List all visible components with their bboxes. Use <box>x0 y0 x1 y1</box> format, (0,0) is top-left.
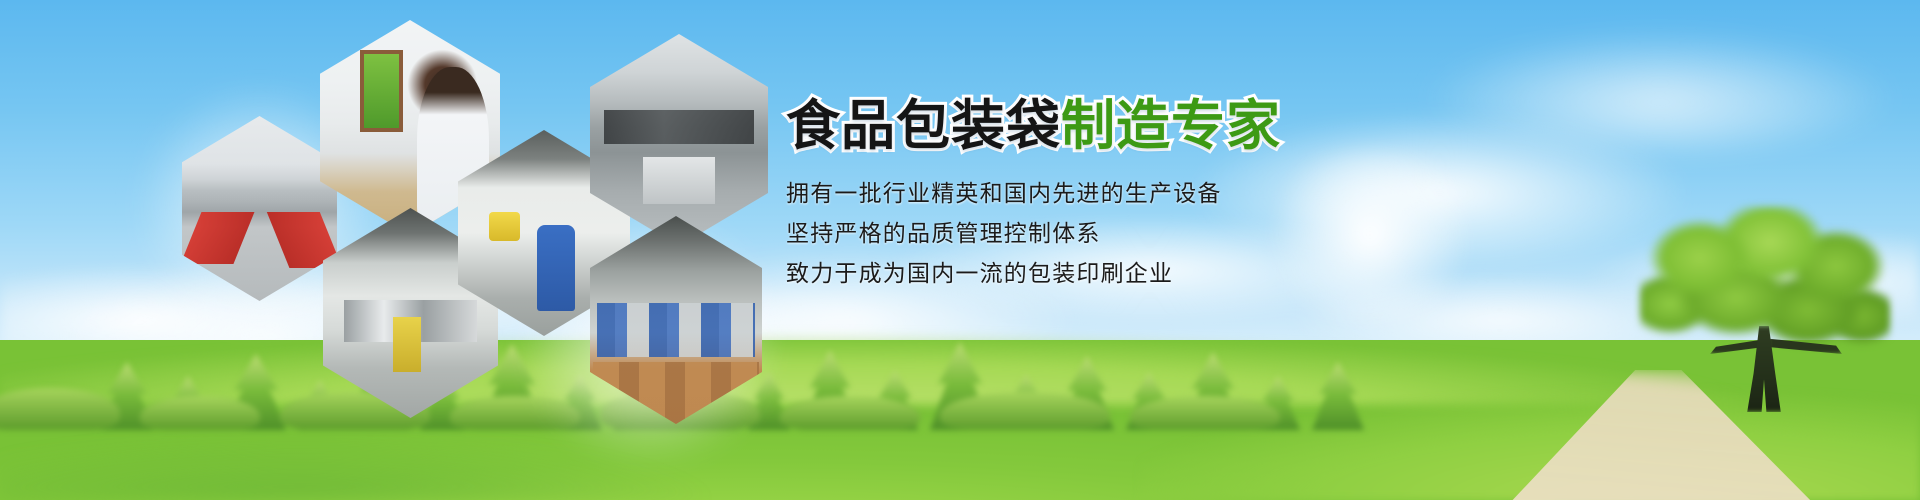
hero-banner: 食品包装袋制造专家 拥有一批行业精英和国内先进的生产设备 坚持严格的品质管理控制… <box>0 0 1920 500</box>
hexagon-photo-cluster <box>170 18 780 358</box>
headline-dark-part: 食品包装袋 <box>786 94 1061 157</box>
large-tree <box>1640 206 1890 416</box>
bush <box>780 396 920 430</box>
headline: 食品包装袋制造专家 <box>786 96 1486 156</box>
subline-1: 拥有一批行业精英和国内先进的生产设备 <box>786 174 1486 214</box>
bush <box>0 388 120 430</box>
banner-copy: 食品包装袋制造专家 拥有一批行业精英和国内先进的生产设备 坚持严格的品质管理控制… <box>786 96 1486 294</box>
conifer-tree <box>1312 362 1364 430</box>
subline-2: 坚持严格的品质管理控制体系 <box>786 214 1486 254</box>
subline-3: 致力于成为国内一流的包装印刷企业 <box>786 254 1486 294</box>
bush <box>940 392 1110 430</box>
bush <box>140 396 260 430</box>
bush <box>1130 396 1280 430</box>
headline-green-part: 制造专家 <box>1061 94 1281 157</box>
